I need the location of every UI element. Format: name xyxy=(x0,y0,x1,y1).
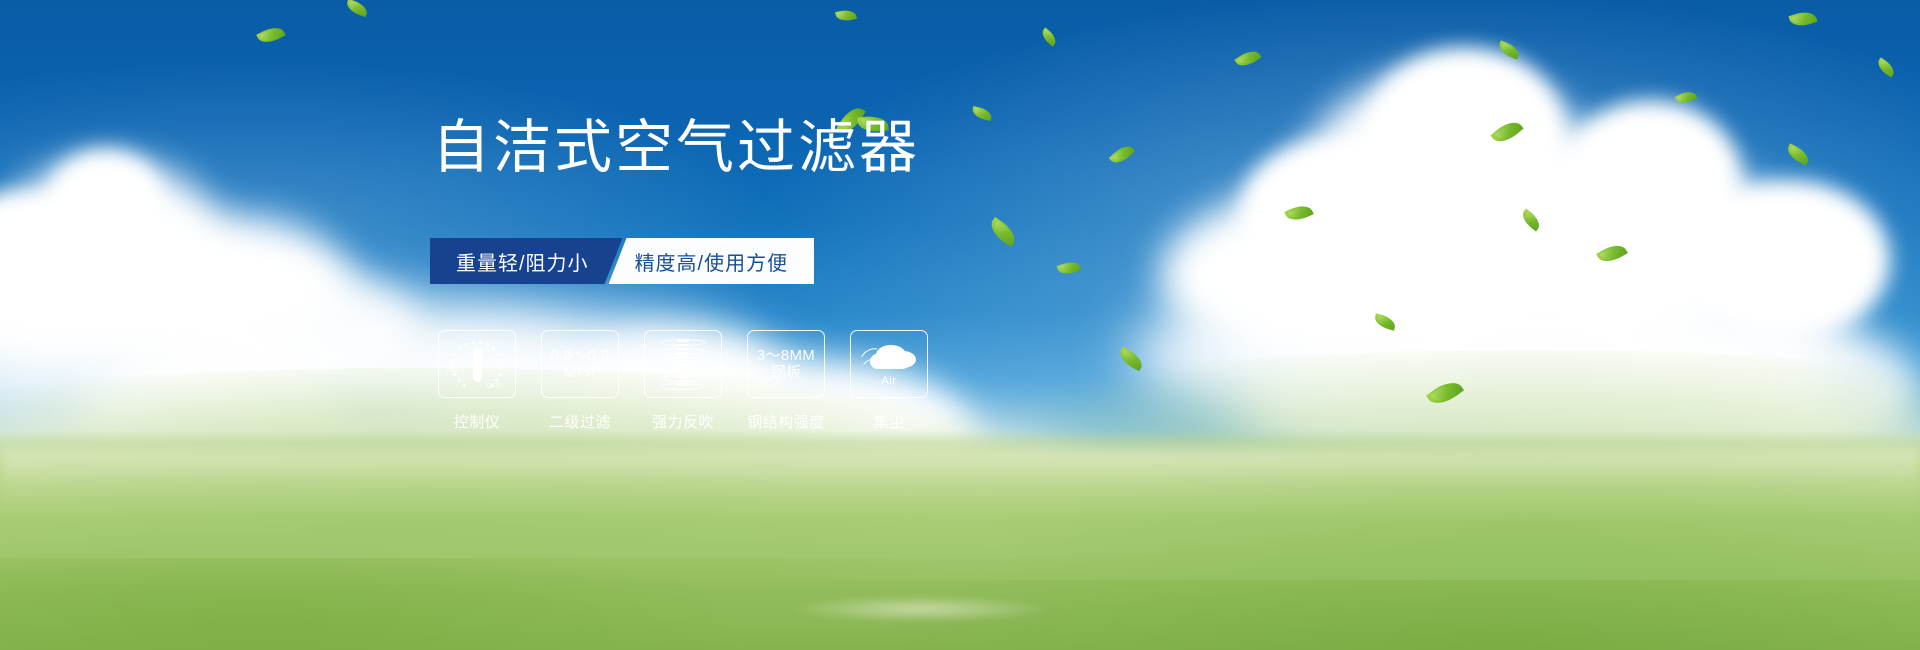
tag-label: 重量轻/阻力小 xyxy=(456,247,589,276)
pressure-range: 0.6～0.8 xyxy=(551,347,610,364)
feature-icon-box: 0.6～0.8 MPA xyxy=(541,330,619,398)
steel-material: 钢板 xyxy=(757,364,815,381)
feature-icon-box: NO OFF xyxy=(438,330,516,398)
gauge-icon: NO OFF xyxy=(447,337,507,391)
feature-steel-strength: 3～8MM 钢板 钢结构强度 xyxy=(747,330,825,432)
feature-label: 钢结构强度 xyxy=(747,411,825,432)
feature-label: 强力反吹 xyxy=(652,411,714,432)
tag-lightweight-lowresistance: 重量轻/阻力小 xyxy=(430,238,623,284)
feature-label: 集尘 xyxy=(873,411,904,432)
feature-strong-backblow: 强力反吹 xyxy=(644,330,722,432)
pressure-unit: MPA xyxy=(551,364,610,381)
banner-content: 自洁式空气过滤器 重量轻/阻力小 精度高/使用方便 NO OFF xyxy=(0,0,1920,650)
feature-dust-collection: Air 集尘 xyxy=(850,330,928,432)
feature-icon-box xyxy=(644,330,722,398)
tag-precision-easyuse: 精度高/使用方便 xyxy=(609,238,815,284)
feature-label: 二级过滤 xyxy=(549,411,611,432)
air-label: Air xyxy=(860,375,918,387)
page-title: 自洁式空气过滤器 xyxy=(432,118,920,176)
feature-two-stage-filter: 0.6～0.8 MPA 二级过滤 xyxy=(541,330,619,432)
feature-label: 控制仪 xyxy=(454,411,501,432)
tag-label: 精度高/使用方便 xyxy=(635,247,789,276)
feature-icon-box: Air xyxy=(850,330,928,398)
air-cloud-icon: Air xyxy=(860,341,918,387)
coil-filter-icon xyxy=(661,338,705,390)
feature-icon-row: NO OFF xyxy=(438,330,928,432)
gauge-max-label: OFF xyxy=(487,383,501,390)
feature-controller: NO OFF xyxy=(438,330,516,432)
pressure-text-icon: 0.6～0.8 MPA xyxy=(551,347,610,381)
steel-plate-text-icon: 3～8MM 钢板 xyxy=(757,347,815,381)
steel-thickness: 3～8MM xyxy=(757,347,815,364)
product-hero-banner: 自洁式空气过滤器 重量轻/阻力小 精度高/使用方便 NO OFF xyxy=(0,0,1920,650)
feature-icon-box: 3～8MM 钢板 xyxy=(747,330,825,398)
feature-tag-bar: 重量轻/阻力小 精度高/使用方便 xyxy=(430,238,814,284)
gauge-needle xyxy=(473,348,482,382)
